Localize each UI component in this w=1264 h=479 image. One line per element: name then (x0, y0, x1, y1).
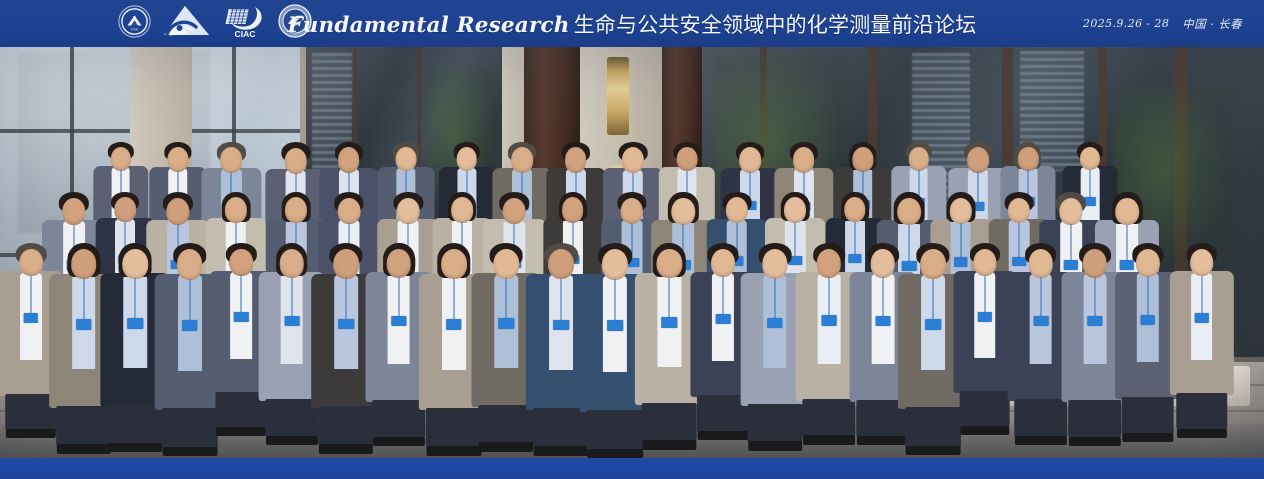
person-legs (372, 400, 426, 439)
person-shoes (1176, 429, 1226, 438)
person-lanyard (346, 278, 347, 318)
person-head (711, 249, 735, 277)
person-head (1115, 198, 1139, 225)
person-head (672, 198, 695, 225)
person-head (1080, 147, 1100, 170)
person-shoes (1014, 436, 1066, 445)
person-head (565, 147, 587, 172)
person-head (908, 147, 928, 171)
person-badge (875, 316, 890, 326)
wave-mountain-logo (162, 4, 212, 43)
person-head (494, 249, 519, 279)
person-legs (1176, 393, 1227, 431)
person-lanyard (1147, 276, 1148, 314)
person-badge (234, 312, 248, 322)
person-shoes (319, 444, 373, 454)
person-shoes (534, 446, 589, 456)
person-badge (607, 320, 623, 331)
person-lanyard (291, 277, 292, 316)
person-shoes (960, 426, 1009, 435)
person-head (451, 197, 473, 222)
person-shoes (1069, 437, 1121, 446)
banner-title-english: Fundamental Research (288, 13, 570, 38)
person-badge (24, 313, 38, 323)
person-head (1059, 198, 1082, 225)
person-head (110, 147, 130, 171)
person-shoes (373, 437, 425, 446)
person-lanyard (398, 277, 399, 316)
person-head (622, 147, 644, 173)
person-head (333, 249, 359, 279)
person-head (739, 147, 761, 172)
person-head (19, 249, 43, 277)
logo-strip: CAS · · · · · (118, 0, 312, 47)
person-badge (338, 319, 354, 330)
person-head (122, 249, 147, 279)
person-lanyard (669, 278, 670, 318)
person-head (114, 197, 136, 222)
person-legs (959, 391, 1010, 428)
person-lanyard (984, 275, 985, 312)
person-head (871, 249, 896, 278)
person-badge (925, 319, 941, 330)
person-lanyard (189, 279, 190, 320)
person-head (602, 249, 628, 279)
person-head (621, 198, 644, 224)
person-head (562, 197, 584, 222)
person-legs (802, 399, 855, 438)
person-lanyard (829, 277, 830, 316)
person-lanyard (774, 278, 775, 318)
person-legs (1068, 400, 1122, 439)
person-head (762, 249, 787, 278)
person-badge (1194, 313, 1208, 323)
event-location: 中国 · 长春 (1182, 16, 1242, 32)
person-head (784, 197, 806, 223)
person-head (1008, 198, 1030, 224)
person-shoes (587, 449, 643, 458)
person-shoes (266, 436, 318, 445)
person-head (844, 197, 865, 222)
person-lanyard (932, 279, 933, 320)
person-head (456, 147, 477, 171)
person-shoes (108, 443, 162, 453)
person-legs (747, 404, 802, 444)
svg-text:· · · · ·: · · · · · (131, 10, 137, 12)
person-head (167, 147, 188, 172)
person-head (177, 249, 203, 279)
person-head (221, 147, 243, 172)
person-badge (499, 318, 514, 329)
banner-title-chinese: 生命与公共安全领域中的化学测量前沿论坛 (574, 14, 977, 37)
person-head (279, 249, 304, 278)
person-shoes (906, 446, 961, 456)
person-head (1018, 147, 1038, 171)
person (1169, 243, 1233, 424)
person-lanyard (453, 279, 454, 320)
person-head (657, 249, 682, 278)
person-badge (977, 312, 991, 322)
person-badge (822, 315, 837, 325)
person-shoes (56, 444, 110, 454)
person-shoes (162, 447, 217, 457)
person-head (1190, 249, 1214, 277)
group-photo (0, 47, 1264, 458)
person-lanyard (614, 279, 615, 320)
person-head (441, 249, 467, 279)
person-lanyard (241, 275, 242, 312)
person-shoes (1122, 433, 1173, 442)
person-legs (265, 399, 318, 438)
poster-root: CAS · · · · · (0, 0, 1264, 479)
event-date: 2025.9.26 - 28 (1083, 17, 1169, 30)
person-head (726, 197, 748, 223)
person-badge (767, 318, 782, 329)
person-shoes (643, 440, 696, 449)
person-badge (182, 320, 198, 331)
person-head (338, 147, 360, 172)
person-head (1136, 249, 1160, 277)
person-lanyard (1201, 276, 1202, 313)
person-lanyard (83, 278, 84, 318)
person-head (677, 147, 698, 171)
person-head (511, 147, 533, 172)
person-shoes (803, 435, 855, 444)
person-head (62, 198, 86, 225)
person-head (967, 147, 989, 172)
person-head (337, 198, 360, 224)
person-head (973, 249, 996, 276)
ciac-logo-label: CIAC (234, 29, 255, 39)
top-banner: CAS · · · · · (0, 0, 1264, 47)
person-head (852, 147, 873, 172)
person-head (1082, 249, 1107, 278)
person-badge (716, 314, 731, 324)
person-head (503, 198, 526, 225)
person-head (793, 147, 815, 172)
person-lanyard (722, 276, 723, 314)
person-badge (391, 316, 406, 326)
svg-text:◦ ◦ ◦: ◦ ◦ ◦ (293, 34, 297, 36)
person-head (166, 198, 189, 225)
person-head (71, 249, 97, 279)
person-lanyard (135, 278, 136, 318)
circular-academy-emblem-logo: CAS · · · · · (118, 5, 151, 43)
person-head (284, 148, 307, 174)
wall-lamp (607, 57, 629, 135)
person-badge (446, 319, 462, 330)
person-legs (1014, 399, 1068, 438)
person-shoes (479, 442, 533, 452)
person-badge (662, 317, 677, 328)
person-badge (284, 316, 299, 326)
person-shoes (748, 441, 802, 450)
person-legs (642, 403, 697, 443)
circular-crane-emblem-logo: ◦ ◦ ◦ ◦ ◦ ◦ ◦ ◦ (278, 4, 312, 43)
person-head (920, 249, 946, 279)
person-lanyard (506, 278, 507, 318)
person-head (395, 147, 416, 171)
person-badge (76, 319, 92, 330)
person-head (285, 197, 307, 223)
person-lanyard (1094, 277, 1095, 316)
person-badge (127, 318, 143, 329)
person-lanyard (30, 276, 31, 313)
banner-meta: 2025.9.26 - 28 中国 · 长春 (1083, 0, 1242, 47)
person-head (949, 198, 971, 224)
ciac-institute-logo: CIAC (223, 3, 267, 44)
svg-text:CAS: CAS (131, 27, 139, 31)
person-lanyard (561, 279, 562, 320)
person-head (897, 198, 921, 226)
person-head (225, 197, 247, 223)
person-head (386, 249, 411, 278)
svg-text:◦ ◦ ◦ ◦ ◦: ◦ ◦ ◦ ◦ ◦ (292, 9, 298, 11)
person-badge (1087, 316, 1102, 326)
bottom-bar (0, 458, 1264, 479)
person-head (230, 249, 253, 276)
person-head (1028, 249, 1053, 278)
person-lanyard (882, 277, 883, 316)
person-legs (1121, 397, 1174, 436)
person-badge (1140, 315, 1155, 325)
person-shoes (426, 446, 481, 456)
person-badge (1033, 316, 1048, 326)
person-badge (554, 320, 570, 331)
person-lanyard (1040, 277, 1041, 316)
person-head (548, 249, 574, 279)
person-head (397, 198, 420, 224)
